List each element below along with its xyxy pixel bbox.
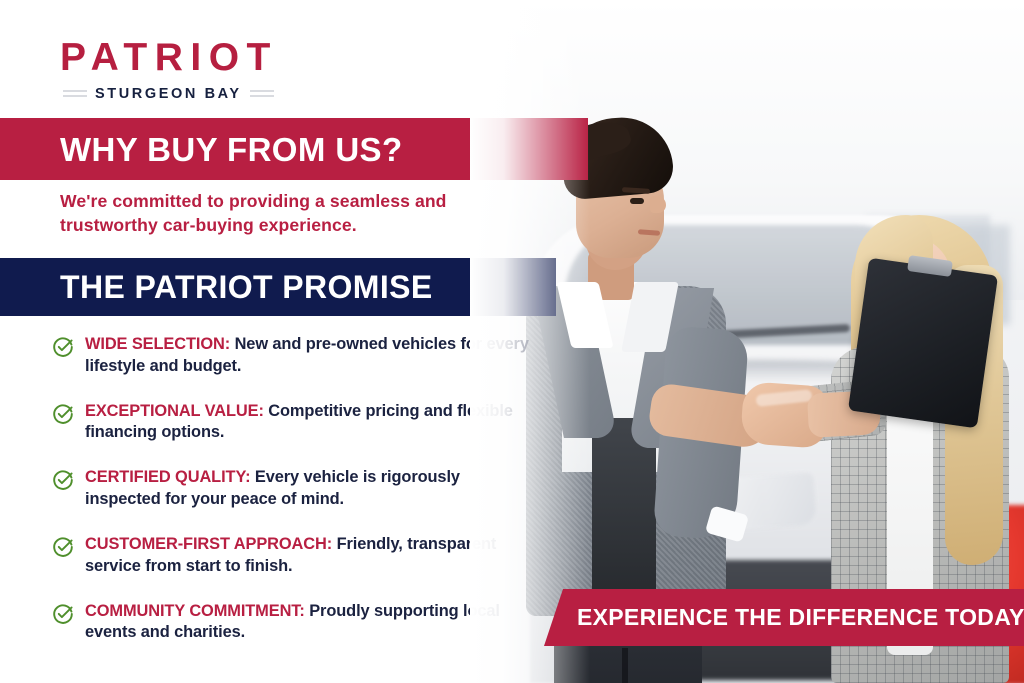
cta-text: EXPERIENCE THE DIFFERENCE TODAY! [577, 604, 1024, 631]
list-item: WIDE SELECTION: New and pre-owned vehicl… [52, 334, 532, 378]
bullet-text: EXCEPTIONAL VALUE: Competitive pricing a… [85, 401, 532, 445]
list-item: COMMUNITY COMMITMENT: Proudly supporting… [52, 601, 532, 645]
check-circle-icon [52, 536, 74, 563]
logo-wordmark: PATRIOT [60, 38, 400, 77]
cta-banner[interactable]: EXPERIENCE THE DIFFERENCE TODAY! [544, 589, 1024, 646]
check-circle-icon [52, 603, 74, 630]
logo-dash-left-icon [63, 90, 87, 98]
bullet-text: COMMUNITY COMMITMENT: Proudly supporting… [85, 601, 532, 645]
bullet-label: EXCEPTIONAL VALUE: [85, 402, 264, 420]
headline-title: WHY BUY FROM US? [60, 133, 403, 166]
bullet-text: CERTIFIED QUALITY: Every vehicle is rigo… [85, 467, 532, 511]
list-item: EXCEPTIONAL VALUE: Competitive pricing a… [52, 401, 532, 445]
headline-band: WHY BUY FROM US? [0, 118, 588, 180]
promise-bullet-list: WIDE SELECTION: New and pre-owned vehicl… [52, 334, 532, 644]
dealership-handshake-photo [470, 0, 1024, 683]
bullet-label: WIDE SELECTION: [85, 335, 230, 353]
promise-title: THE PATRIOT PROMISE [60, 271, 433, 303]
advertisement-canvas: PATRIOT STURGEON BAY WHY BUY FROM US? We… [0, 0, 1024, 683]
list-item: CERTIFIED QUALITY: Every vehicle is rigo… [52, 467, 532, 511]
bullet-label: CUSTOMER-FIRST APPROACH: [85, 535, 332, 553]
logo-subtitle: STURGEON BAY [95, 86, 242, 102]
clipboard [848, 258, 998, 429]
bullet-label: COMMUNITY COMMITMENT: [85, 602, 305, 620]
promise-band: THE PATRIOT PROMISE [0, 258, 556, 316]
bullet-text: WIDE SELECTION: New and pre-owned vehicl… [85, 334, 532, 378]
bullet-text: CUSTOMER-FIRST APPROACH: Friendly, trans… [85, 534, 532, 578]
check-circle-icon [52, 336, 74, 363]
check-circle-icon [52, 469, 74, 496]
patriot-logo[interactable]: PATRIOT STURGEON BAY [60, 38, 400, 102]
logo-subtitle-row: STURGEON BAY [63, 86, 400, 102]
bullet-label: CERTIFIED QUALITY: [85, 468, 250, 486]
tagline: We're committed to providing a seamless … [60, 190, 530, 238]
list-item: CUSTOMER-FIRST APPROACH: Friendly, trans… [52, 534, 532, 578]
logo-dash-right-icon [250, 90, 274, 98]
check-circle-icon [52, 403, 74, 430]
